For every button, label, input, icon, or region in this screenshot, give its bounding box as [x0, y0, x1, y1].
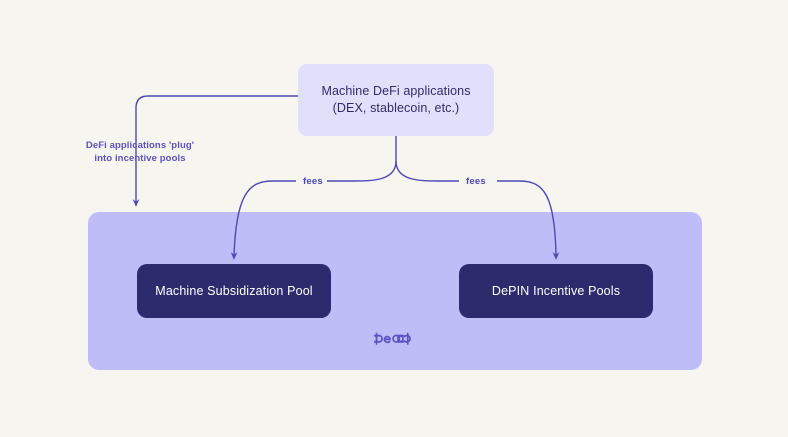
defi-box-line-1: Machine DeFi applications	[321, 83, 470, 100]
depin-incentive-pools-box: DePIN Incentive Pools	[459, 264, 653, 318]
connector-fee-left-curve	[320, 161, 396, 181]
machine-subsidization-pool-label: Machine Subsidization Pool	[155, 284, 312, 298]
peaq-logo-icon	[374, 327, 416, 347]
fee-label-left: fees	[299, 176, 327, 187]
fee-label-right: fees	[462, 176, 490, 187]
connector-fee-right-curve	[396, 161, 459, 181]
plug-annotation: DeFi applications 'plug' into incentive …	[62, 139, 218, 165]
machine-defi-applications-box: Machine DeFi applications (DEX, stableco…	[298, 64, 494, 136]
defi-box-line-2: (DEX, stablecoin, etc.)	[333, 100, 460, 117]
plug-annotation-line-2: into incentive pools	[62, 152, 218, 165]
plug-annotation-line-1: DeFi applications 'plug'	[62, 139, 218, 152]
diagram-canvas: Machine DeFi applications (DEX, stableco…	[0, 0, 788, 437]
depin-incentive-pools-label: DePIN Incentive Pools	[492, 284, 620, 298]
machine-subsidization-pool-box: Machine Subsidization Pool	[137, 264, 331, 318]
